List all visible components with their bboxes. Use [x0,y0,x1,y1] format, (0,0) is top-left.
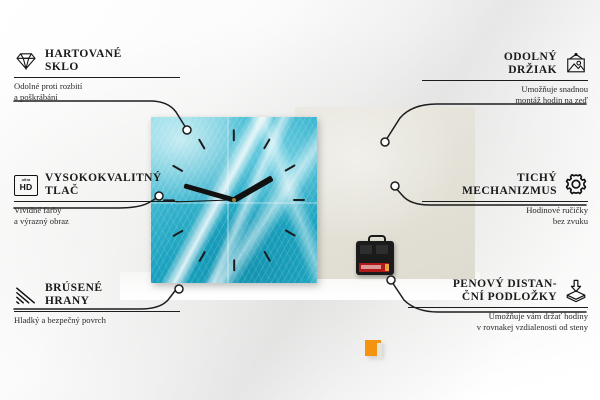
feature-divider [422,80,588,81]
clock-tick [262,251,270,263]
feature-divider [14,311,180,312]
feature-description: Umožňuje vám držať hodiny v rovnakej vzd… [408,311,588,332]
clock-tick [172,164,184,172]
clock-tick [197,251,205,263]
feature-header: ODOLNÝ DRŽIAK [422,51,588,77]
feature-title: PENOVÝ DISTAN- ČNÍ PODLOŽKY [453,278,557,304]
mechanism-body [356,241,394,275]
clock-tick [293,199,305,201]
feature-title: HARTOVANÉ SKLO [45,48,122,74]
gear-icon [564,174,588,196]
infographic-canvas: HARTOVANÉ SKLO Odolné proti rozbití a po… [0,0,600,400]
battery-label [361,265,381,269]
feature-ground-edges: BRÚSENÉ HRANY Hladký a bezpečný povrch [14,282,180,326]
clock-tick [233,129,235,141]
feature-description: Odolné proti rozbití a poškrábání [14,81,180,102]
feature-foam-spacers: PENOVÝ DISTAN- ČNÍ PODLOŽKY Umožňuje vám… [408,278,588,332]
clock-mechanism [356,235,394,275]
feature-title: TICHÝ MECHANIZMUS [462,172,557,198]
feature-header: BRÚSENÉ HRANY [14,282,180,308]
ultra-hd-icon: ultra HD [14,174,38,196]
feature-divider [14,77,180,78]
feature-title: BRÚSENÉ HRANY [45,282,102,308]
feature-divider [408,307,588,308]
clock-tick [262,138,270,150]
feature-header: PENOVÝ DISTAN- ČNÍ PODLOŽKY [408,278,588,304]
diagonal-lines-icon [14,284,38,306]
stacked-pad-arrow-icon [564,280,588,302]
clock-tick [233,259,235,271]
clock-hour-hand [233,176,274,203]
feature-description: Vividné farby a výrazný obraz [14,205,180,226]
clock-tick [172,229,184,237]
hd-label: HD [20,183,33,192]
feature-divider [422,201,588,202]
feature-header: HARTOVANÉ SKLO [14,48,180,74]
clock-tick [284,229,296,237]
feature-header: TICHÝ MECHANIZMUS [422,172,588,198]
diamond-icon [14,50,38,72]
foam-spacer-pad [365,340,381,356]
clock-tick [197,138,205,150]
feature-description: Hladký a bezpečný povrch [14,315,180,326]
clock-tick [284,164,296,172]
picture-frame-icon [564,53,588,75]
clock-center-pin [232,198,236,202]
feature-durable-hanger: ODOLNÝ DRŽIAK Umožňuje snadnou montáž ho… [422,51,588,105]
feature-description: Umožňuje snadnou montáž hodin na zeď [422,84,588,105]
feature-title: ODOLNÝ DRŽIAK [504,51,557,77]
feature-header: ultra HD VYSOKOKVALITNÝ TLAČ [14,172,180,198]
feature-title: VYSOKOKVALITNÝ TLAČ [45,172,162,198]
feature-high-quality-print: ultra HD VYSOKOKVALITNÝ TLAČ Vividné far… [14,172,180,226]
feature-tempered-glass: HARTOVANÉ SKLO Odolné proti rozbití a po… [14,48,180,102]
battery [359,263,389,272]
feature-divider [14,201,180,202]
feature-description: Hodinové ručičky bez zvuku [422,205,588,226]
feature-silent-mechanism: TICHÝ MECHANIZMUS Hodinové ručičky bez z… [422,172,588,226]
